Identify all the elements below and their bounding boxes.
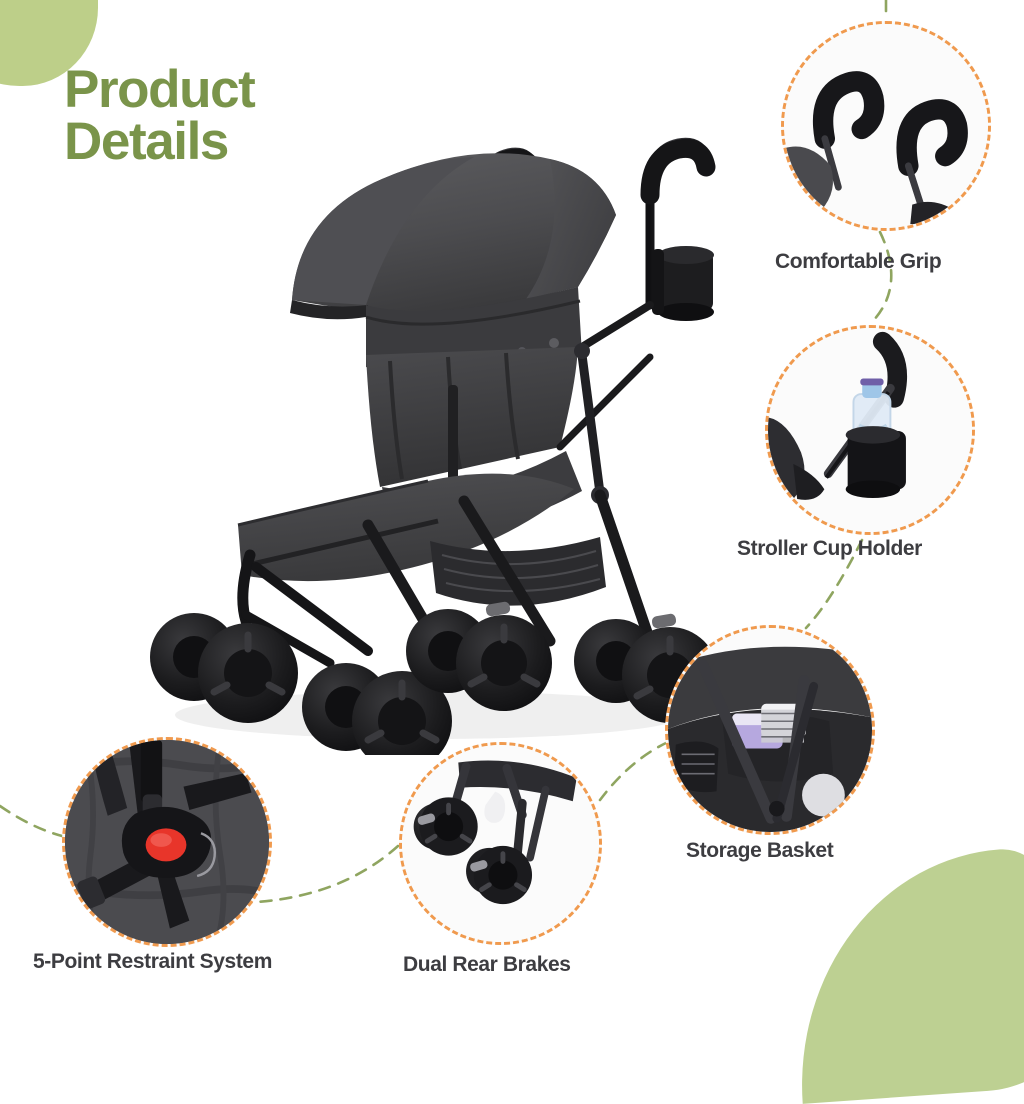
storage-basket-bubble[interactable] — [665, 625, 875, 835]
cup-holder-on-stroller — [652, 246, 714, 321]
callout-label-dual-rear-brakes: Dual Rear Brakes — [403, 953, 571, 977]
connector-cup — [872, 232, 891, 322]
callout-label-stroller-cup-holder: Stroller Cup Holder — [737, 537, 922, 561]
callout-label-comfortable-grip: Comfortable Grip — [775, 250, 941, 274]
callout-storage-basket[interactable]: Storage Basket — [665, 625, 875, 835]
decorative-blob-bottom-right — [786, 844, 1024, 1104]
restraint-system-bubble[interactable] — [62, 737, 272, 947]
callout-label-storage-basket: Storage Basket — [686, 839, 833, 863]
connector-harness-tail — [0, 806, 62, 836]
handlebar-grips-icon — [784, 24, 988, 228]
dual-rear-brakes-bubble[interactable] — [399, 742, 602, 945]
callout-dual-rear-brakes[interactable]: Dual Rear Brakes — [399, 742, 602, 945]
cup-holder-icon — [768, 328, 972, 532]
comfortable-grip-bubble[interactable] — [781, 21, 991, 231]
harness-buckle-icon — [65, 740, 269, 944]
storage-basket-icon — [668, 628, 872, 832]
wheels-group — [150, 601, 718, 755]
callout-label-5-point-restraint-system: 5-Point Restraint System — [33, 950, 272, 974]
callout-comfortable-grip[interactable]: Comfortable Grip — [781, 21, 991, 231]
callout-stroller-cup-holder[interactable]: Stroller Cup Holder — [765, 325, 975, 535]
callout-5-point-restraint-system[interactable]: 5-Point Restraint System — [62, 737, 272, 947]
stroller-cup-holder-bubble[interactable] — [765, 325, 975, 535]
canopy-group — [290, 153, 616, 378]
rear-brakes-icon — [402, 745, 599, 942]
infographic-canvas: Product Details — [0, 0, 1024, 1024]
product-hero-image — [130, 55, 720, 755]
